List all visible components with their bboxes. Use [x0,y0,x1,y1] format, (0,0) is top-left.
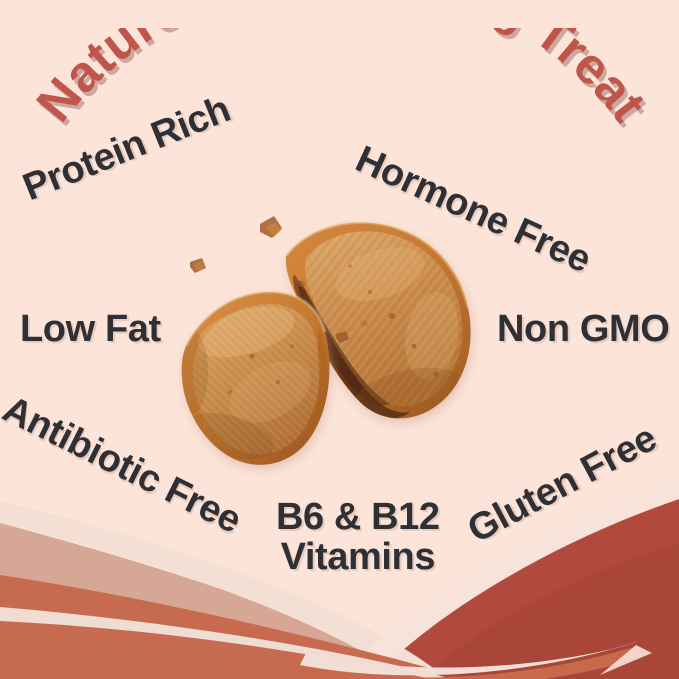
benefit-label-vitamins-line2: Vitamins [276,538,440,578]
treat-piece-lower [176,292,329,468]
band-cream-sliver [0,619,679,679]
band-cream-sliver-arc [0,607,452,679]
band-terracotta-wedge [300,647,648,679]
band-notch [600,645,652,675]
benefit-label-non-gmo: Non GMO [497,310,669,350]
product-benefits-poster: Nature's Perfect Dog Treat Nature's Perf… [0,0,679,679]
band-brick-red-dark [424,543,679,679]
band-terracotta-main [0,575,470,679]
benefit-label-vitamins: B6 & B12 Vitamins [276,498,440,577]
benefit-label-low-fat: Low Fat [20,310,161,350]
benefit-label-vitamins-line1: B6 & B12 [276,496,440,538]
product-image [174,196,494,476]
band-cream-arrow [300,641,640,675]
